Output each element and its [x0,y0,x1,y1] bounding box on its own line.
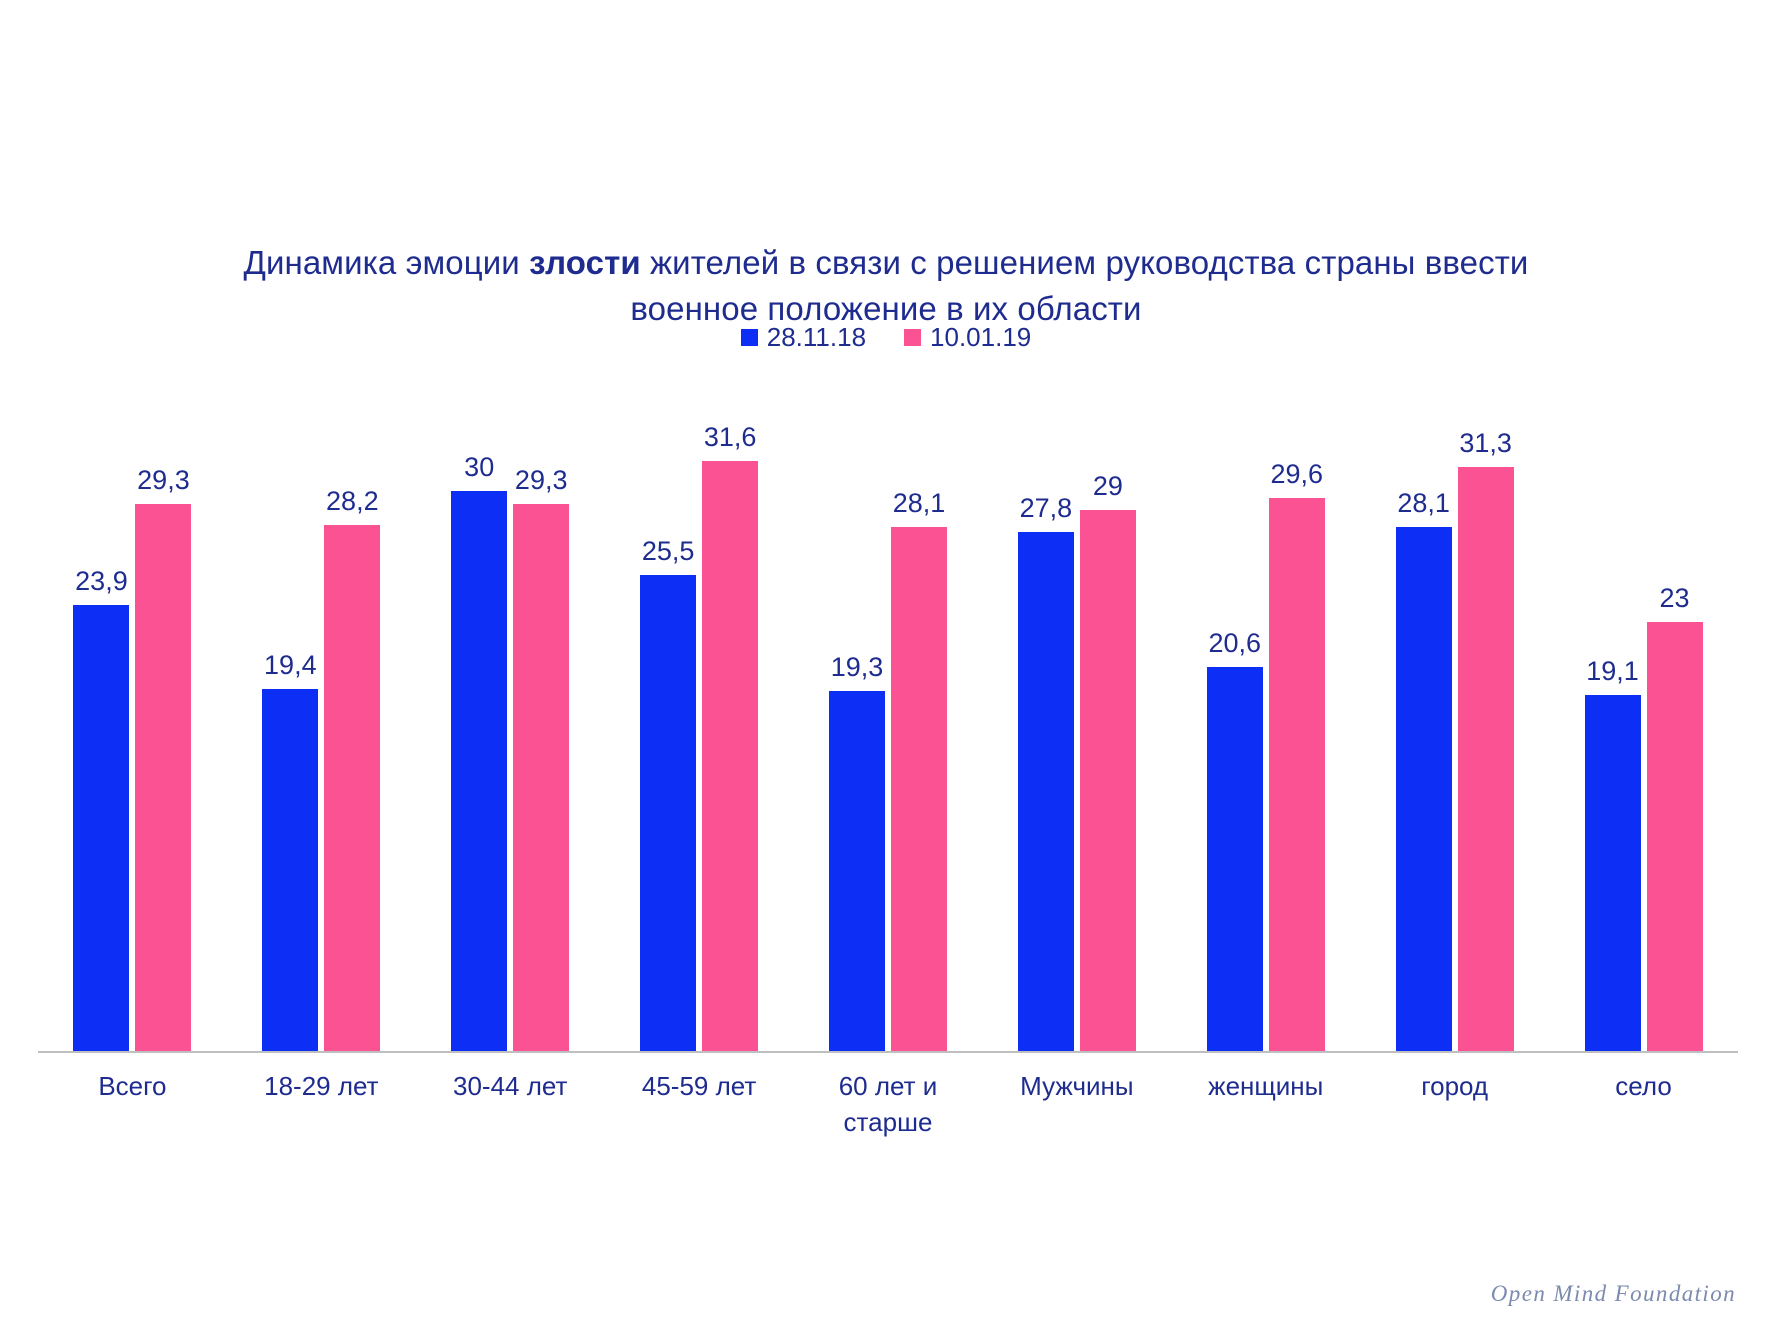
bar-column: 23 [1647,360,1703,1052]
bar-value-label: 20,6 [1208,630,1261,657]
legend-item-label: 10.01.19 [930,324,1031,350]
chart-plot-area: 23,929,319,428,23029,325,531,619,328,127… [38,360,1738,1052]
bar-value-label: 23 [1660,585,1690,612]
bar-column: 30 [451,360,507,1052]
chart-title-part2: жителей в связи с решением руководства с… [630,244,1528,327]
bar-value-label: 28,2 [326,488,379,515]
x-axis-category-label: Мужчины [982,1068,1171,1104]
bar-value-label: 19,1 [1586,658,1639,685]
chart-title-part1: Динамика эмоции [244,244,530,281]
bar-series2[interactable] [1080,510,1136,1052]
bar-column: 29 [1080,360,1136,1052]
bar-series1[interactable] [640,575,696,1052]
bar-value-label: 31,6 [704,424,757,451]
bar-series1[interactable] [1207,667,1263,1052]
bar-series1[interactable] [73,605,129,1052]
bar-column: 29,6 [1269,360,1325,1052]
x-axis-category-label: 30-44 лет [416,1068,605,1104]
bar-series2[interactable] [1458,467,1514,1052]
bar-group: 19,123 [1549,360,1738,1052]
x-axis-category-label: село [1549,1068,1738,1104]
bar-value-label: 28,1 [1397,490,1450,517]
bar-column: 29,3 [513,360,569,1052]
bar-series2[interactable] [513,504,569,1052]
bar-column: 29,3 [135,360,191,1052]
bar-value-label: 29 [1093,473,1123,500]
bar-value-label: 29,3 [137,467,190,494]
chart-title: Динамика эмоции злости жителей в связи с… [236,240,1536,332]
bar-column: 28,1 [891,360,947,1052]
bar-column: 27,8 [1018,360,1074,1052]
bar-column: 28,1 [1396,360,1452,1052]
bar-value-label: 31,3 [1459,430,1512,457]
bar-series1[interactable] [1018,532,1074,1052]
bar-value-label: 28,1 [893,490,946,517]
bar-column: 31,6 [702,360,758,1052]
bar-column: 28,2 [324,360,380,1052]
legend-item-1[interactable]: 28.11.18 [741,324,866,350]
x-axis-category-label: женщины [1171,1068,1360,1104]
bar-value-label: 29,6 [1270,461,1323,488]
bar-series1[interactable] [1396,527,1452,1052]
bar-series2[interactable] [891,527,947,1052]
bar-column: 25,5 [640,360,696,1052]
bar-group: 19,428,2 [227,360,416,1052]
bar-series2[interactable] [324,525,380,1052]
bar-group: 23,929,3 [38,360,227,1052]
bar-group: 20,629,6 [1171,360,1360,1052]
bar-series2[interactable] [702,461,758,1052]
bar-group: 28,131,3 [1360,360,1549,1052]
bar-series2[interactable] [135,504,191,1052]
bar-value-label: 29,3 [515,467,568,494]
x-axis-category-label: 45-59 лет [605,1068,794,1104]
footer-attribution: Open Mind Foundation [1491,1281,1736,1307]
x-axis-line [38,1051,1738,1053]
bar-series1[interactable] [829,691,885,1052]
bar-value-label: 30 [464,454,494,481]
chart-legend: 28.11.1810.01.19 [0,324,1772,350]
legend-item-2[interactable]: 10.01.19 [904,324,1031,350]
bar-value-label: 23,9 [75,568,128,595]
bar-group: 19,328,1 [794,360,983,1052]
legend-swatch-icon [904,329,921,346]
x-axis-category-label: 18-29 лет [227,1068,416,1104]
bar-series2[interactable] [1647,622,1703,1052]
legend-item-label: 28.11.18 [767,324,866,350]
bar-value-label: 19,3 [831,654,884,681]
bar-column: 23,9 [73,360,129,1052]
chart-title-emphasis: злости [529,244,641,281]
bar-column: 31,3 [1458,360,1514,1052]
bar-group: 27,829 [982,360,1171,1052]
bar-column: 20,6 [1207,360,1263,1052]
bar-group: 3029,3 [416,360,605,1052]
x-axis-category-label: город [1360,1068,1549,1104]
bar-value-label: 25,5 [642,538,695,565]
slide-canvas: Динамика эмоции злости жителей в связи с… [0,0,1772,1329]
bar-value-label: 27,8 [1020,495,1073,522]
bar-series1[interactable] [451,491,507,1052]
x-axis-category-label: 60 лет и старше [794,1068,983,1140]
bar-column: 19,1 [1585,360,1641,1052]
bar-value-label: 19,4 [264,652,317,679]
bar-series2[interactable] [1269,498,1325,1052]
bar-column: 19,3 [829,360,885,1052]
bar-series1[interactable] [1585,695,1641,1052]
bar-group: 25,531,6 [605,360,794,1052]
bar-column: 19,4 [262,360,318,1052]
legend-swatch-icon [741,329,758,346]
x-axis-category-label: Всего [38,1068,227,1104]
bar-series1[interactable] [262,689,318,1052]
